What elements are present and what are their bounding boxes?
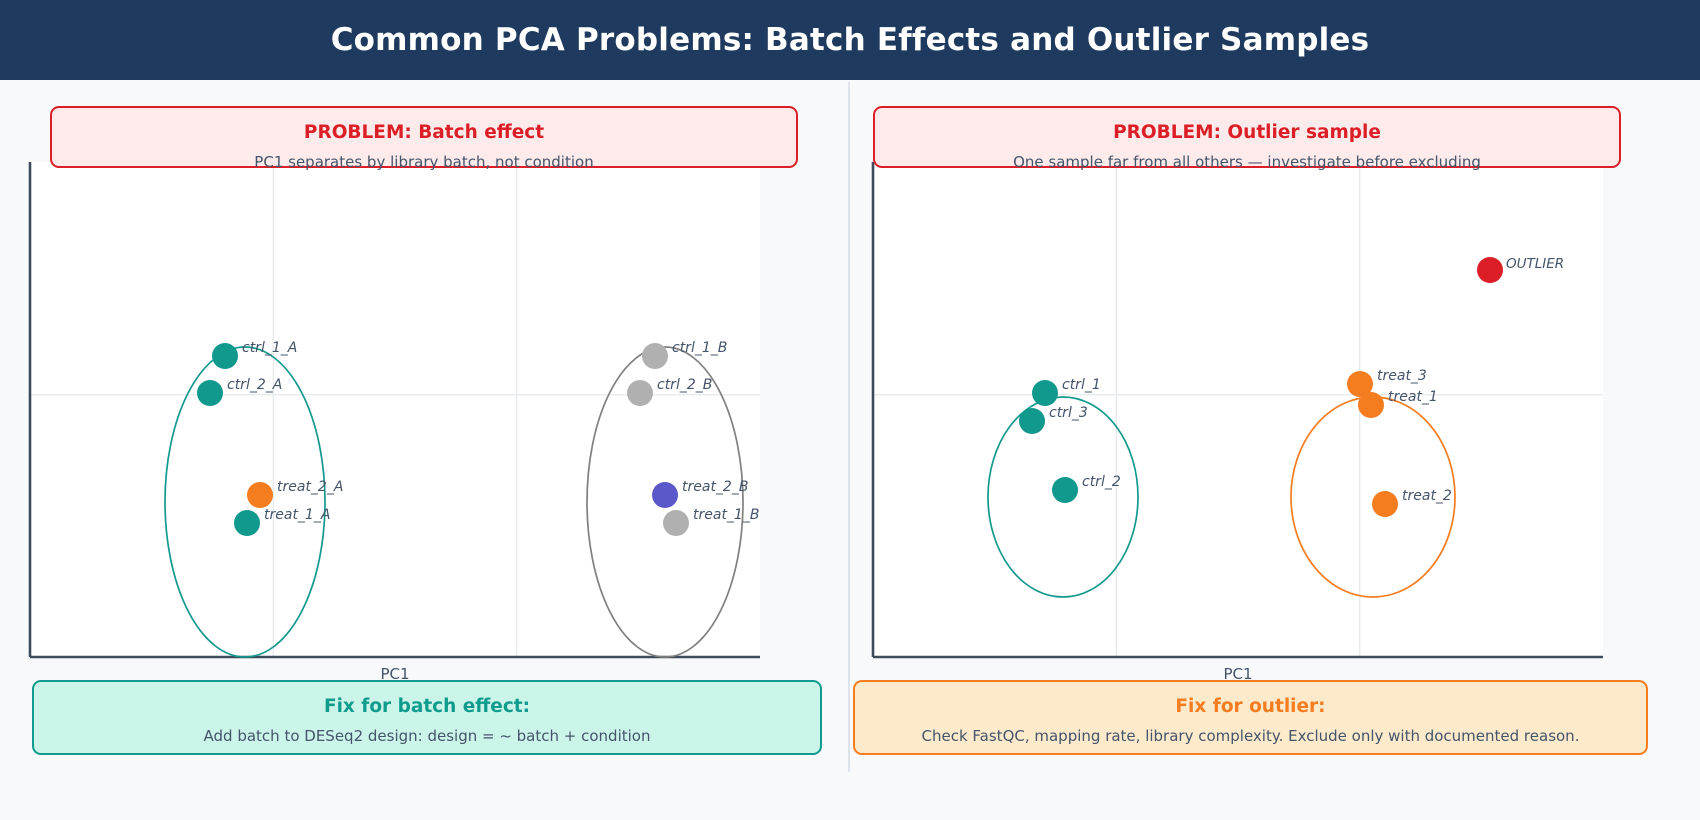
fix-callout-outlier: Fix for outlier: Check FastQC, mapping r… bbox=[853, 680, 1648, 755]
problem-subtitle: PC1 separates by library batch, not cond… bbox=[52, 153, 796, 173]
data-point-treat_1[interactable] bbox=[1358, 392, 1384, 418]
point-label-ctrl_3: ctrl_3 bbox=[1049, 405, 1088, 421]
plot-area-batch-effect: ctrl_1_Actrl_2_Atreat_2_Atreat_1_Actrl_1… bbox=[0, 80, 849, 700]
data-point-ctrl_2_B[interactable] bbox=[627, 380, 653, 406]
page-title: Common PCA Problems: Batch Effects and O… bbox=[331, 22, 1370, 58]
data-point-treat_2[interactable] bbox=[1372, 491, 1398, 517]
point-label-ctrl_2: ctrl_2 bbox=[1082, 474, 1121, 490]
point-label-ctrl_2_B: ctrl_2_B bbox=[657, 377, 712, 393]
problem-callout-batch-effect: PROBLEM: Batch effect PC1 separates by l… bbox=[50, 106, 798, 168]
plot-background bbox=[30, 162, 760, 657]
point-label-ctrl_2_A: ctrl_2_A bbox=[227, 377, 282, 393]
point-label-treat_3: treat_3 bbox=[1377, 368, 1427, 384]
plot-area-outlier-sample: ctrl_1ctrl_3ctrl_2treat_3treat_1treat_2O… bbox=[851, 80, 1700, 700]
point-label-ctrl_1_A: ctrl_1_A bbox=[242, 340, 297, 356]
data-point-treat_2_A[interactable] bbox=[247, 482, 273, 508]
data-point-treat_1_B[interactable] bbox=[663, 510, 689, 536]
point-label-treat_2_B: treat_2_B bbox=[682, 479, 748, 495]
point-label-treat_1_A: treat_1_A bbox=[264, 507, 330, 523]
page-header: Common PCA Problems: Batch Effects and O… bbox=[0, 0, 1700, 80]
plot-background bbox=[873, 162, 1603, 657]
data-point-ctrl_3[interactable] bbox=[1019, 408, 1045, 434]
problem-subtitle: One sample far from all others — investi… bbox=[875, 153, 1619, 173]
fix-subtitle: Check FastQC, mapping rate, library comp… bbox=[855, 727, 1646, 747]
data-point-outlier[interactable] bbox=[1477, 257, 1503, 283]
problem-title: PROBLEM: Batch effect bbox=[52, 121, 796, 144]
point-label-treat_2: treat_2 bbox=[1402, 488, 1452, 504]
data-point-ctrl_2[interactable] bbox=[1052, 477, 1078, 503]
panel-outlier-sample: ctrl_1ctrl_3ctrl_2treat_3treat_1treat_2O… bbox=[851, 80, 1700, 820]
point-label-ctrl_1: ctrl_1 bbox=[1062, 377, 1101, 393]
scatter-plot-batch-effect: ctrl_1_Actrl_2_Atreat_2_Atreat_1_Actrl_1… bbox=[0, 80, 849, 700]
fix-callout-batch-effect: Fix for batch effect: Add batch to DESeq… bbox=[32, 680, 822, 755]
data-point-ctrl_1_B[interactable] bbox=[642, 343, 668, 369]
fix-subtitle: Add batch to DESeq2 design: design = ~ b… bbox=[34, 727, 820, 747]
data-point-treat_2_B[interactable] bbox=[652, 482, 678, 508]
problem-callout-outlier: PROBLEM: Outlier sample One sample far f… bbox=[873, 106, 1621, 168]
data-point-treat_1_A[interactable] bbox=[234, 510, 260, 536]
fix-title: Fix for outlier: bbox=[855, 695, 1646, 718]
data-point-ctrl_1[interactable] bbox=[1032, 380, 1058, 406]
point-label-treat_2_A: treat_2_A bbox=[277, 479, 343, 495]
fix-title: Fix for batch effect: bbox=[34, 695, 820, 718]
problem-title: PROBLEM: Outlier sample bbox=[875, 121, 1619, 144]
data-point-ctrl_1_A[interactable] bbox=[212, 343, 238, 369]
page-root: Common PCA Problems: Batch Effects and O… bbox=[0, 0, 1700, 820]
data-point-ctrl_2_A[interactable] bbox=[197, 380, 223, 406]
point-label-treat_1: treat_1 bbox=[1388, 389, 1438, 405]
point-label-treat_1_B: treat_1_B bbox=[693, 507, 759, 523]
panel-batch-effect: ctrl_1_Actrl_2_Atreat_2_Atreat_1_Actrl_1… bbox=[0, 80, 849, 820]
scatter-plot-outlier-sample: ctrl_1ctrl_3ctrl_2treat_3treat_1treat_2O… bbox=[851, 80, 1700, 700]
point-label-ctrl_1_B: ctrl_1_B bbox=[672, 340, 727, 356]
point-label-outlier: OUTLIER bbox=[1506, 256, 1564, 272]
